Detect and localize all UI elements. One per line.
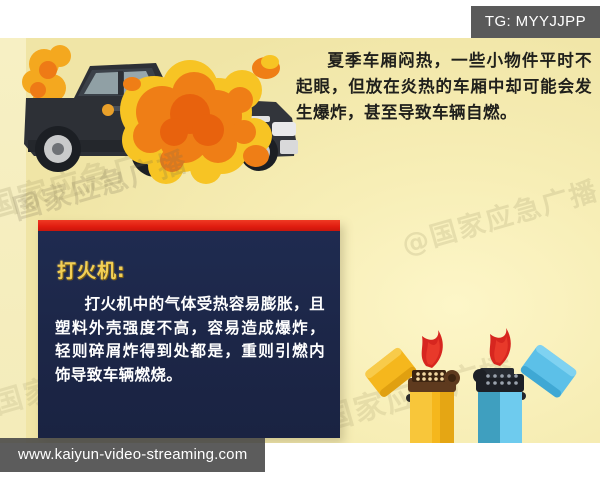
screenshot-root: TG: MYYJJPP 国家应急广播 @国家应急广播 国家应急广播 国家应急广播 [0,0,600,480]
lighters-illustration [352,326,600,443]
panel-body: 打火机: 打火机中的气体受热容易膨胀，且塑料外壳强度不高，容易造成爆炸，轻则碎屑… [38,231,340,438]
telegram-handle-badge: TG: MYYJJPP [471,6,600,38]
burning-car-illustration [4,44,304,209]
poster-intro-paragraph: 夏季车厢闷热，一些小物件平时不起眼，但放在炎热的车厢中却可能会发生爆炸，甚至导致… [296,48,592,126]
panel-heading: 打火机: [57,256,126,283]
source-url-banner: www.kaiyun-video-streaming.com [0,438,265,472]
panel-red-accent-bar [38,220,340,231]
watermark-text: @国家应急广播 [397,169,600,262]
poster-image: 国家应急广播 @国家应急广播 国家应急广播 国家应急广播 [0,38,600,443]
lighter-info-panel: 打火机: 打火机中的气体受热容易膨胀，且塑料外壳强度不高，容易造成爆炸，轻则碎屑… [38,220,340,438]
panel-paragraph: 打火机中的气体受热容易膨胀，且塑料外壳强度不高，容易造成爆炸，轻则碎屑炸得到处都… [55,293,325,387]
